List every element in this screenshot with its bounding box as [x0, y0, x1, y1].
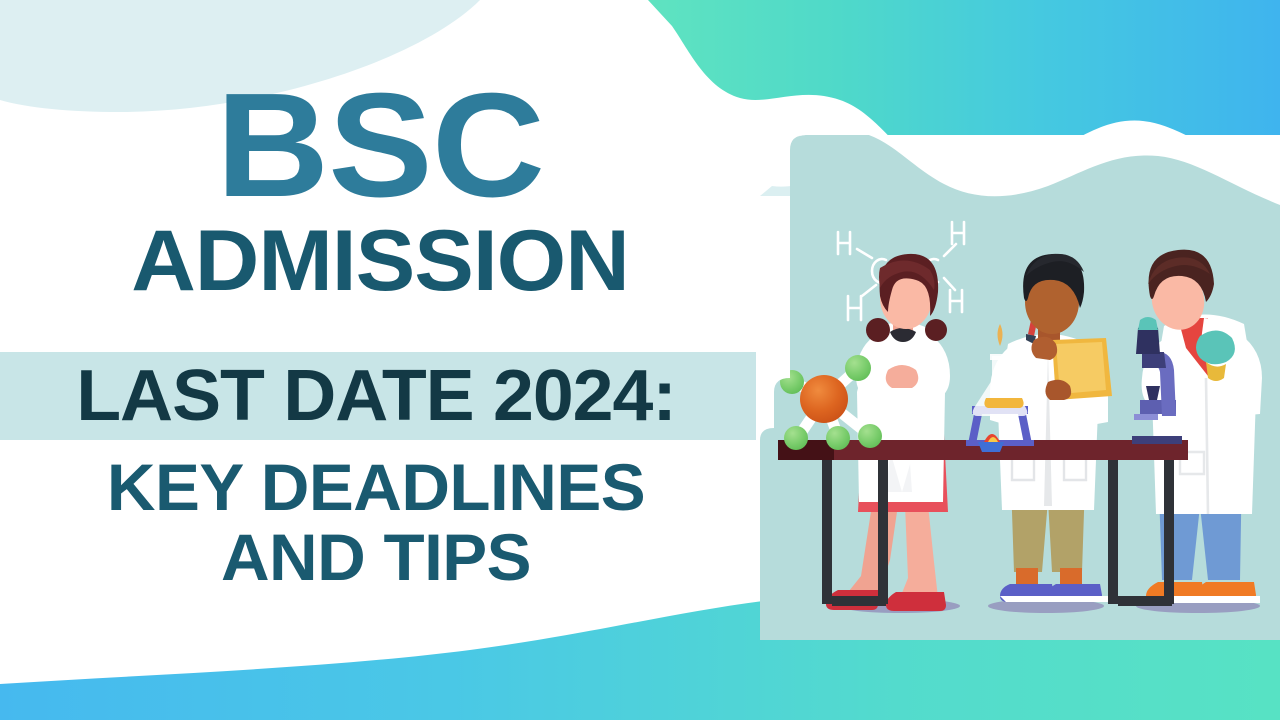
headline-key-deadlines: KEY DEADLINES	[0, 452, 760, 522]
headline-block: BSC ADMISSION	[0, 78, 760, 303]
lab-bench	[778, 440, 1188, 606]
microscope	[1132, 317, 1182, 444]
chem-formula-ethylene	[857, 244, 956, 296]
student-male-right	[1136, 250, 1262, 613]
headline-last-date: LAST DATE 2024:	[0, 355, 760, 437]
conical-flask-with-burner	[966, 324, 1034, 452]
panel-top-white-wave	[760, 131, 1280, 205]
wave-bottom	[0, 591, 1280, 720]
student-male-center	[988, 254, 1112, 613]
headline-admission: ADMISSION	[0, 220, 775, 303]
wave-top-right-pale-echo	[760, 178, 1280, 254]
illustration-panel	[760, 135, 1280, 640]
headline-bsc: BSC	[0, 78, 783, 214]
headline-subtitle: KEY DEADLINES AND TIPS	[0, 452, 760, 592]
headline-and-tips: AND TIPS	[0, 522, 760, 592]
illustration-content	[760, 131, 1280, 613]
bsc-admission-banner: BSC ADMISSION LAST DATE 2024: KEY DEADLI…	[0, 0, 1280, 720]
molecular-model	[780, 355, 882, 450]
student-female-left	[826, 254, 960, 613]
chem-formula-atom-labels	[838, 222, 964, 320]
